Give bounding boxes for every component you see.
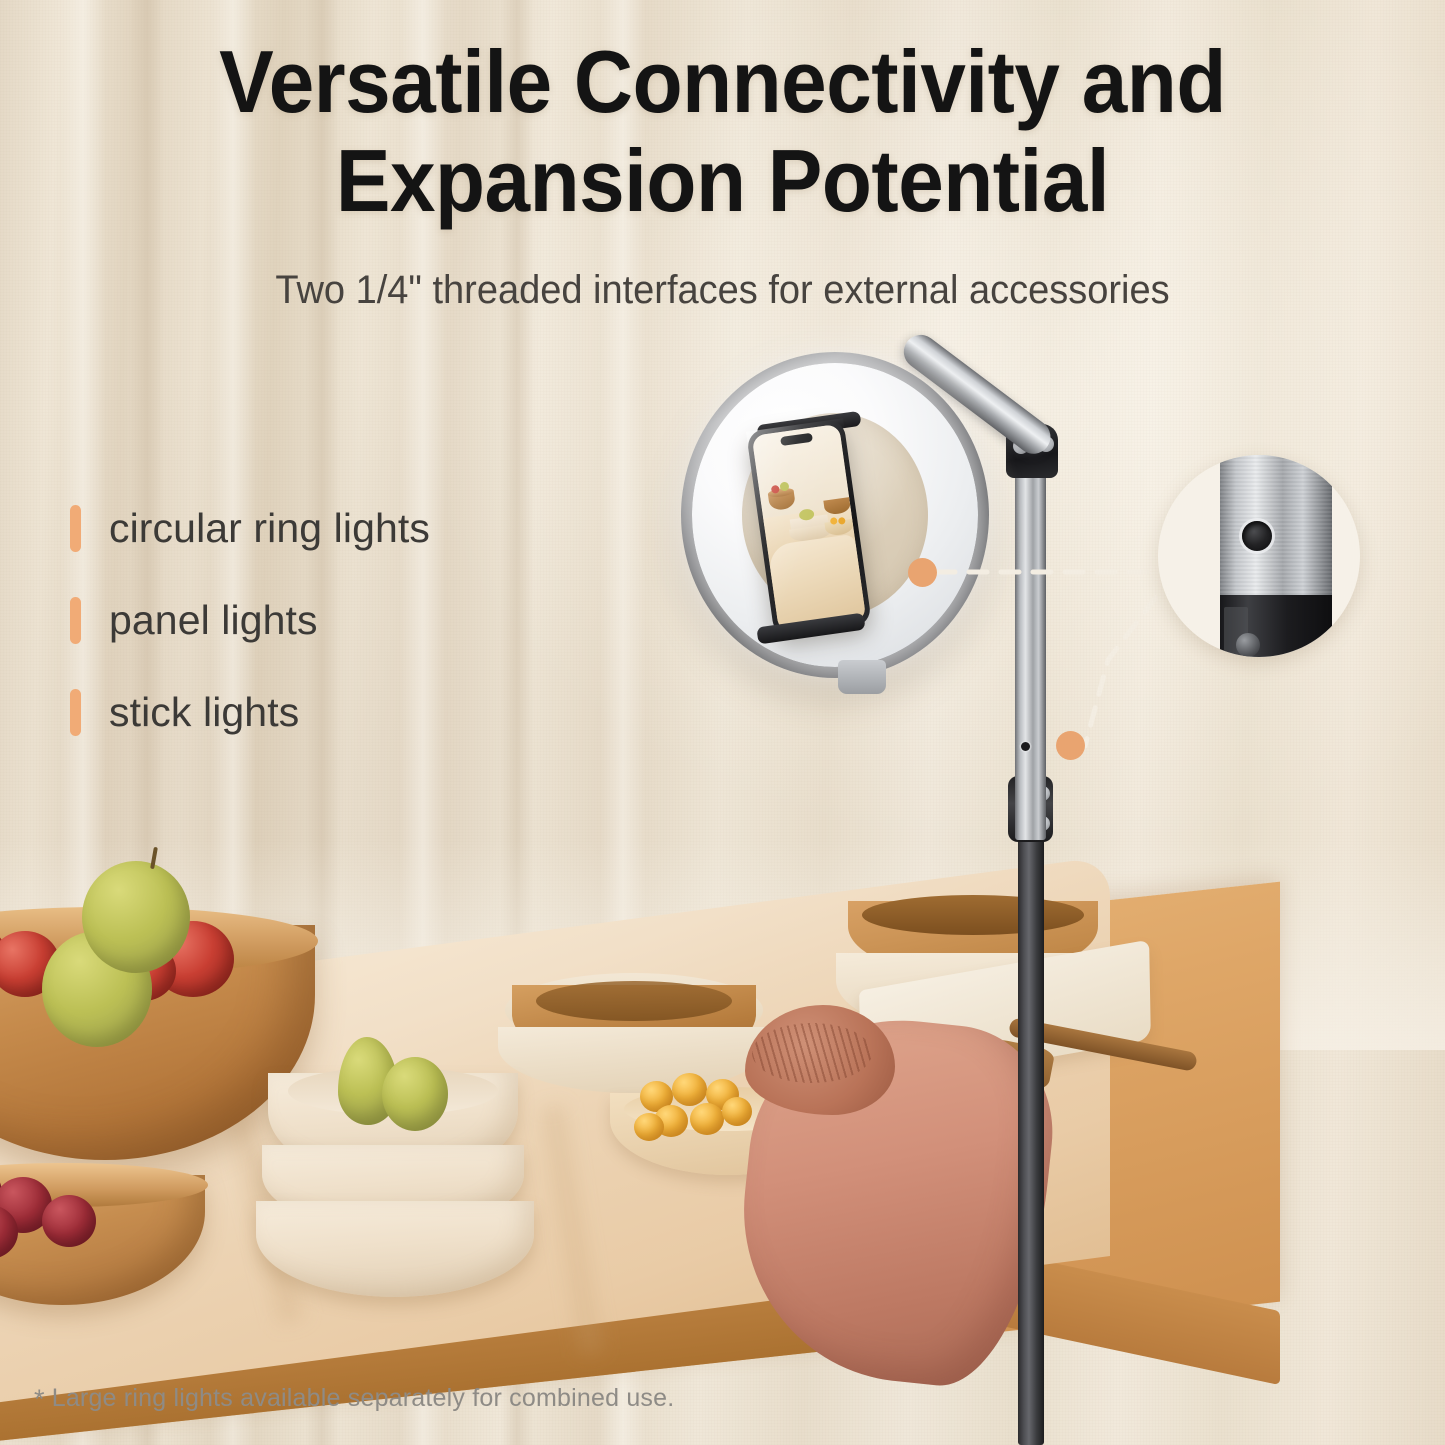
callout-dot-upper-thread — [908, 558, 937, 587]
ring-light-mount-tab — [838, 660, 886, 694]
headline-line-2: Expansion Potential — [51, 131, 1395, 230]
headline-line-1: Versatile Connectivity and — [219, 32, 1226, 131]
callout-dot-lower-thread — [1056, 731, 1085, 760]
list-item-label: panel lights — [109, 597, 318, 644]
quarter-inch-thread-hole — [1021, 742, 1030, 751]
bullet-marker-icon — [70, 505, 81, 552]
stand-silver-pole — [1015, 468, 1046, 840]
footnote-text: Large ring lights available separately f… — [52, 1384, 675, 1412]
list-item-label: circular ring lights — [109, 505, 430, 552]
thread-detail-magnifier — [1158, 455, 1360, 657]
product-marketing-poster: TELESIN — [0, 0, 1445, 1445]
feature-list: circular ring lights panel lights stick … — [70, 482, 630, 758]
stand-black-pole — [1018, 830, 1044, 1445]
footnote-asterisk: * — [34, 1384, 45, 1414]
bullet-marker-icon — [70, 689, 81, 736]
list-item: stick lights — [70, 666, 630, 758]
list-item: panel lights — [70, 574, 630, 666]
list-item: circular ring lights — [70, 482, 630, 574]
page-subtitle: Two 1/4" threaded interfaces for externa… — [36, 268, 1409, 313]
page-title: Versatile Connectivity and Expansion Pot… — [51, 32, 1395, 231]
detail-ball-joint — [1236, 633, 1260, 657]
detail-quarter-inch-thread-hole — [1242, 521, 1272, 551]
disclaimer-footnote: *Large ring lights available separately … — [34, 1384, 674, 1415]
list-item-label: stick lights — [109, 689, 299, 736]
bullet-marker-icon — [70, 597, 81, 644]
